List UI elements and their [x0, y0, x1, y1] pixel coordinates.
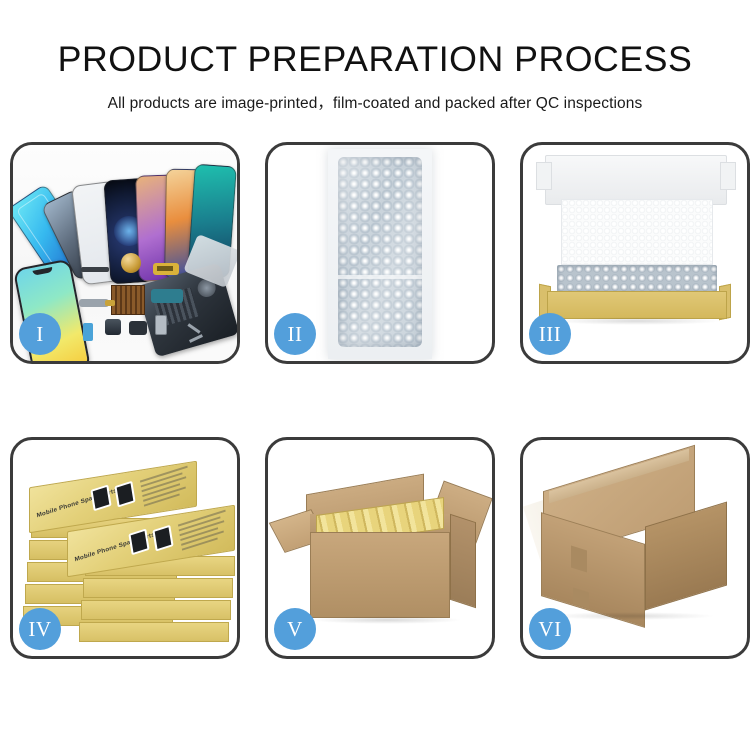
- box-shadow: [553, 317, 721, 325]
- camera-module-part: [105, 319, 121, 335]
- box-label-phone-image: [152, 525, 173, 552]
- carton-shadow: [549, 612, 715, 620]
- bubble-wrapped-items: [557, 265, 717, 293]
- chip-grid-part: [111, 285, 145, 315]
- foam-sheet: [561, 199, 713, 265]
- product-preparation-infographic: PRODUCT PREPARATION PROCESS All products…: [0, 0, 750, 750]
- box-lid: [545, 155, 727, 205]
- process-step-5: V: [265, 437, 495, 659]
- step-badge-3: III: [529, 313, 571, 355]
- header: PRODUCT PREPARATION PROCESS All products…: [0, 0, 750, 113]
- box-front-panel: [547, 291, 727, 319]
- step-badge-2: II: [274, 313, 316, 355]
- step-badge-5: V: [274, 608, 316, 650]
- box-label-phone-image: [128, 528, 149, 555]
- stacked-box: [81, 600, 231, 620]
- flex-board-part: [151, 289, 183, 303]
- carton-handle-cut: [571, 546, 587, 573]
- process-step-3: III: [520, 142, 750, 364]
- box-label-checklist: [178, 510, 230, 554]
- step-badge-1: I: [19, 313, 61, 355]
- step-badge-4: IV: [19, 608, 61, 650]
- blue-component-part: [83, 323, 93, 341]
- process-step-1: I: [10, 142, 240, 364]
- speaker-part: [129, 321, 147, 335]
- spare-parts-group: [75, 253, 205, 357]
- stacked-box: [79, 622, 229, 642]
- process-step-4: Mobile Phone Spare Parts: [10, 437, 240, 659]
- carton-side-panel: [450, 514, 476, 608]
- page-subtitle: All products are image-printed，film-coat…: [0, 91, 750, 113]
- step-badge-6: VI: [529, 608, 571, 650]
- carton-front-panel: [310, 532, 450, 618]
- page-title: PRODUCT PREPARATION PROCESS: [0, 42, 750, 77]
- carton-shadow: [312, 616, 462, 624]
- screw-part: [189, 334, 203, 343]
- box-label-checklist: [140, 466, 192, 510]
- bubble-wrap-gloss: [338, 157, 422, 347]
- process-step-2: II: [265, 142, 495, 364]
- flex-cable-part: [153, 263, 179, 275]
- box-label-phone-image: [114, 481, 135, 508]
- stacked-box: [83, 578, 233, 598]
- connector-bar-part: [81, 267, 109, 272]
- process-step-grid: I II III: [10, 142, 740, 682]
- battery-part: [155, 315, 167, 335]
- bubble-wrap-seam: [338, 275, 422, 279]
- box-label-phone-image: [90, 484, 111, 511]
- camera-lens-part: [121, 253, 141, 273]
- process-step-6: VI: [520, 437, 750, 659]
- ribbon-cable-part: [79, 299, 109, 307]
- screw-part: [187, 323, 200, 333]
